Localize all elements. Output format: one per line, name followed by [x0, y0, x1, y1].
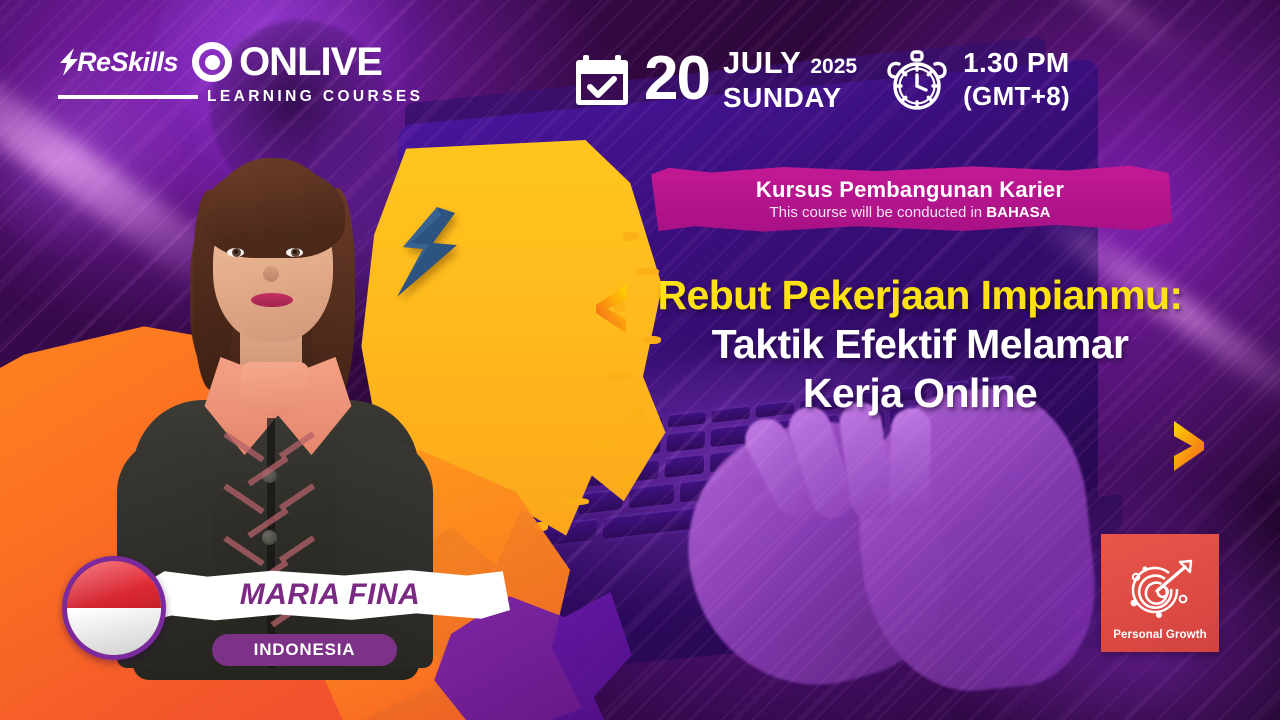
- calendar-check-icon: [574, 52, 630, 108]
- event-day: 20: [644, 52, 709, 107]
- category-badge-label: Personal Growth: [1113, 629, 1207, 641]
- promo-banner: ReSkills ONLIVE LEARNING COURSES 20: [0, 0, 1280, 720]
- reskills-logo[interactable]: ReSkills: [58, 47, 178, 78]
- event-weekday: SUNDAY: [723, 82, 857, 114]
- indonesia-flag-icon: [62, 556, 166, 660]
- course-language-note: This course will be conducted in BAHASA: [770, 204, 1051, 221]
- speaker-country: INDONESIA: [254, 640, 356, 660]
- course-category-label: Kursus Pembangunan Karier: [756, 177, 1064, 203]
- speaker-name: MARIA FINA: [240, 578, 421, 612]
- chevron-right-icon[interactable]: [1168, 418, 1208, 474]
- course-title: Rebut Pekerjaan Impianmu: Taktik Efektif…: [600, 272, 1240, 417]
- alarm-clock-icon: [885, 48, 949, 112]
- event-year: 2025: [810, 55, 857, 79]
- record-dot-icon: [192, 42, 232, 82]
- speaker-portrait: [95, 138, 445, 638]
- logo-underline: LEARNING COURSES: [58, 88, 410, 106]
- course-title-line-3: Kerja Online: [803, 370, 1037, 417]
- divider: [58, 95, 198, 99]
- event-month: JULY: [723, 45, 801, 81]
- course-title-line-2: Taktik Efektif Melamar: [712, 321, 1129, 368]
- event-timezone: (GMT+8): [963, 81, 1070, 112]
- speaker-country-pill: INDONESIA: [212, 634, 397, 666]
- category-badge[interactable]: Personal Growth: [1101, 534, 1219, 652]
- target-arrow-icon: [1123, 559, 1197, 625]
- date-group: 20 JULY 2025 SUNDAY: [574, 45, 857, 114]
- onlive-wordmark: ONLIVE: [239, 43, 382, 81]
- event-time: 1.30 PM: [963, 47, 1070, 79]
- schedule-bar: 20 JULY 2025 SUNDAY: [574, 45, 1070, 114]
- brand-logo[interactable]: ReSkills ONLIVE LEARNING COURSES: [58, 42, 410, 106]
- time-group: 1.30 PM (GMT+8): [885, 47, 1070, 112]
- reskills-wordmark: ReSkills: [77, 47, 178, 78]
- course-title-line-1: Rebut Pekerjaan Impianmu:: [658, 272, 1183, 319]
- course-category-banner: Kursus Pembangunan Karier This course wi…: [648, 165, 1172, 233]
- onlive-logo[interactable]: ONLIVE: [192, 42, 382, 82]
- brand-tagline: LEARNING COURSES: [207, 88, 423, 106]
